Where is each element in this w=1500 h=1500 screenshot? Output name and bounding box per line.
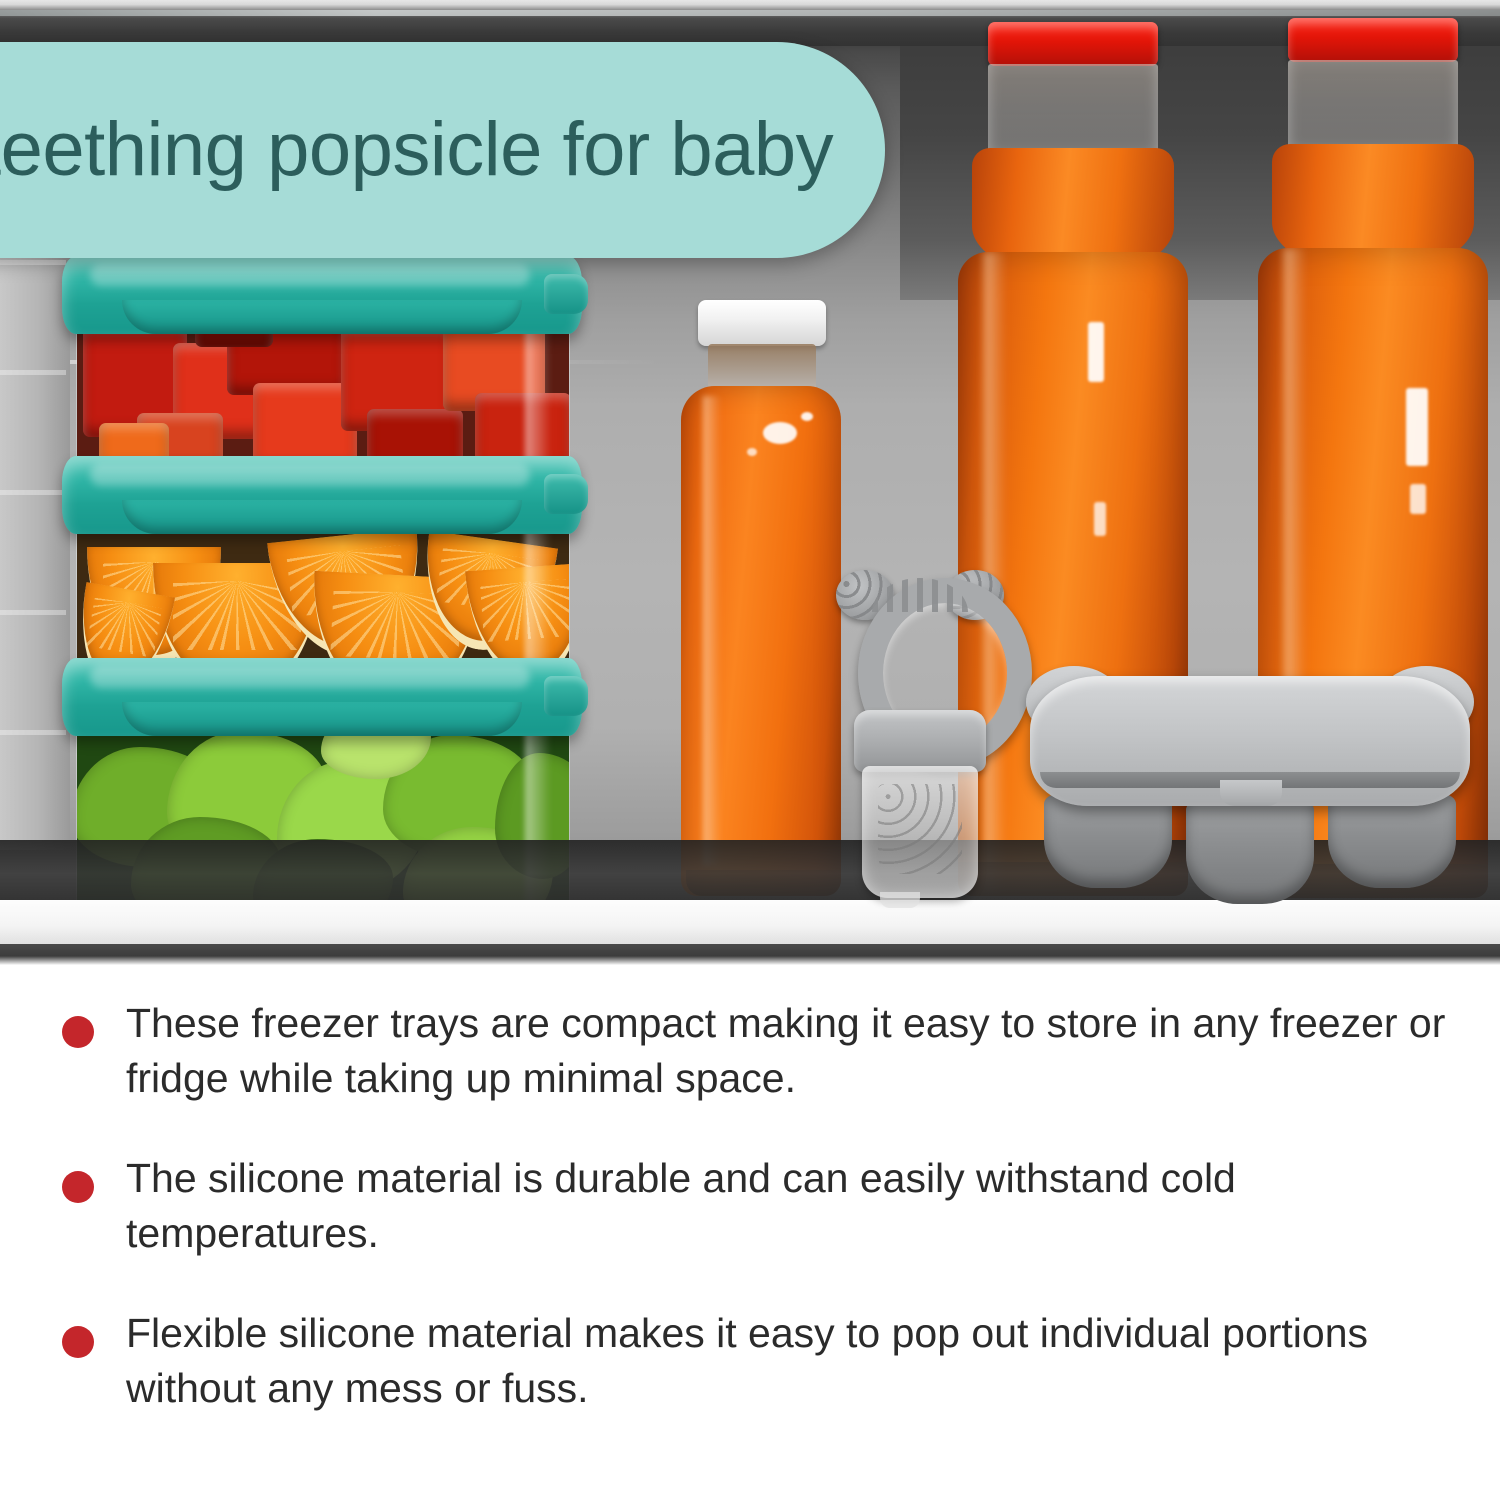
bullet-dot-icon bbox=[62, 1016, 94, 1048]
feature-bullet-list: These freezer trays are compact making i… bbox=[0, 968, 1500, 1500]
feature-text: The silicone material is durable and can… bbox=[126, 1151, 1456, 1260]
headline-banner-text: teething popsicle for baby bbox=[0, 112, 833, 188]
bullet-dot-icon bbox=[62, 1171, 94, 1203]
teether-mesh-pouch bbox=[862, 766, 978, 898]
fridge-shelf-underside bbox=[0, 944, 1500, 968]
list-item: These freezer trays are compact making i… bbox=[62, 996, 1500, 1105]
container-lid-tab bbox=[544, 676, 588, 716]
feature-text: Flexible silicone material makes it easy… bbox=[126, 1306, 1456, 1415]
list-item: Flexible silicone material makes it easy… bbox=[62, 1306, 1500, 1415]
container-lid-teal bbox=[62, 256, 582, 334]
silicone-fruit-feeder-teether bbox=[826, 558, 1012, 908]
bottle-neck bbox=[988, 64, 1158, 156]
bottle-cap-red bbox=[988, 22, 1158, 66]
container-lid-tab bbox=[544, 274, 588, 314]
bottle-cap-red bbox=[1288, 18, 1458, 62]
bottle-neck bbox=[1288, 60, 1458, 152]
tray-cavity bbox=[1328, 794, 1456, 888]
container-lid-teal bbox=[62, 456, 582, 534]
container-lid-teal bbox=[62, 658, 582, 736]
teether-collar bbox=[854, 710, 986, 772]
container-lid-tab bbox=[544, 474, 588, 514]
teether-pouch-tip bbox=[880, 892, 920, 908]
product-photo: teething popsicle for baby bbox=[0, 0, 1500, 968]
bottle-cap-white bbox=[698, 300, 826, 346]
feature-text: These freezer trays are compact making i… bbox=[126, 996, 1456, 1105]
stacked-food-containers bbox=[62, 256, 622, 896]
small-juice-bottle bbox=[676, 300, 846, 896]
bottle-body bbox=[681, 386, 841, 896]
bear-shaped-freezer-tray bbox=[1030, 676, 1470, 896]
fridge-shelf-front-edge bbox=[0, 900, 1500, 946]
tray-lid-knob bbox=[1220, 780, 1282, 806]
tray-cavity bbox=[1044, 794, 1172, 888]
tray-cavity bbox=[1186, 800, 1314, 904]
list-item: The silicone material is durable and can… bbox=[62, 1151, 1500, 1260]
headline-banner: teething popsicle for baby bbox=[0, 42, 885, 258]
bullet-dot-icon bbox=[62, 1326, 94, 1358]
fridge-left-rail bbox=[0, 250, 70, 850]
